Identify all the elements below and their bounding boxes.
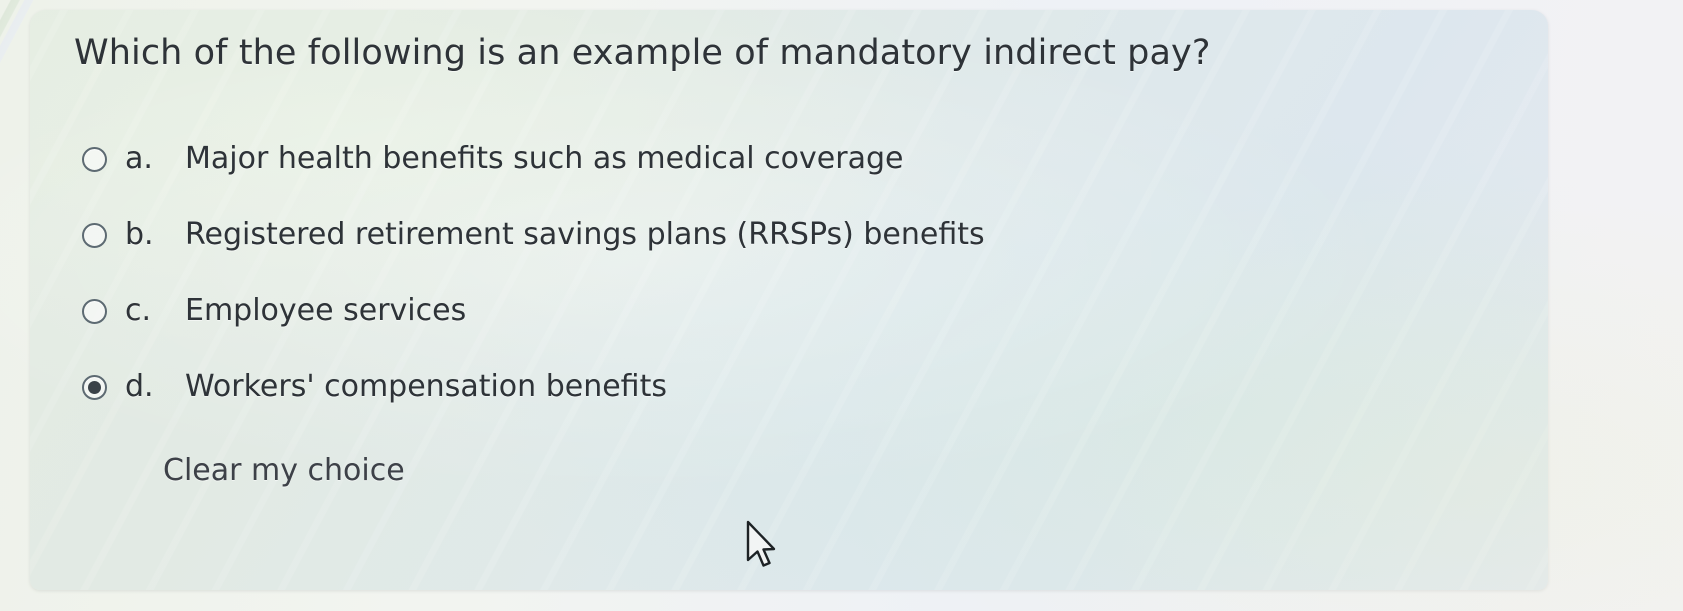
radio-button-b[interactable]	[82, 223, 107, 248]
answer-label-a[interactable]: Major health benefits such as medical co…	[185, 138, 1382, 180]
screen-photo: Which of the following is an example of …	[0, 0, 1683, 611]
quiz-question-card: Which of the following is an example of …	[30, 10, 1548, 590]
answer-label-d[interactable]: Workers' compensation benefits	[185, 366, 1382, 408]
answer-label-b[interactable]: Registered retirement savings plans (RRS…	[185, 214, 1382, 256]
answer-options-list: a. Major health benefits such as medical…	[82, 138, 1382, 442]
answer-letter-a: a.	[125, 138, 185, 180]
radio-button-c[interactable]	[82, 299, 107, 324]
answer-option-c[interactable]: c. Employee services	[82, 290, 1382, 366]
answer-letter-c: c.	[125, 290, 185, 332]
clear-my-choice-link[interactable]: Clear my choice	[163, 450, 405, 492]
answer-option-b[interactable]: b. Registered retirement savings plans (…	[82, 214, 1382, 290]
answer-label-c[interactable]: Employee services	[185, 290, 1382, 332]
radio-button-a[interactable]	[82, 147, 107, 172]
radio-button-d[interactable]	[82, 375, 107, 400]
answer-letter-b: b.	[125, 214, 185, 256]
answer-letter-d: d.	[125, 366, 185, 408]
answer-option-d[interactable]: d. Workers' compensation benefits	[82, 366, 1382, 442]
question-stem: Which of the following is an example of …	[74, 32, 1211, 76]
answer-option-a[interactable]: a. Major health benefits such as medical…	[82, 138, 1382, 214]
